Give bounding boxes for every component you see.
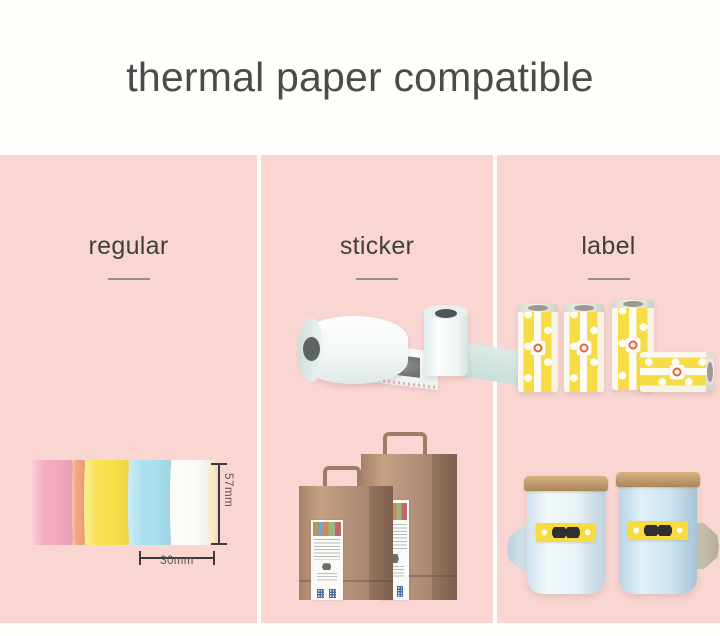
thermal-paper-rolls-image [32, 460, 210, 545]
paper-bag-small-label [311, 520, 343, 600]
mug-right [619, 472, 697, 594]
roll-yellow [84, 460, 130, 545]
page-title: thermal paper compatible [126, 54, 593, 101]
column-regular-title: regular [0, 232, 257, 261]
column-label-header: label [497, 155, 720, 280]
column-sticker-title: sticker [261, 232, 493, 261]
width-dimension-label: 30mm [139, 555, 215, 567]
roll-blue [128, 460, 172, 545]
label-roll-1 [518, 304, 558, 392]
product-infographic: thermal paper compatible regular 57 [0, 0, 720, 636]
sticker-roll-lying [300, 316, 408, 384]
patterned-label-rolls-image [518, 300, 714, 404]
title-bar: thermal paper compatible [0, 0, 720, 155]
mug-right-label [628, 521, 687, 541]
mugs-with-labels-image [505, 466, 715, 598]
column-regular-header: regular [0, 155, 257, 280]
column-regular-rule [108, 278, 150, 280]
column-label-title: label [497, 232, 720, 261]
sticker-paper-rolls-image [280, 296, 470, 406]
sticker-roll-standing [424, 310, 468, 376]
height-dimension-label: 57mm [222, 473, 234, 507]
roll-pink [32, 460, 74, 545]
label-roll-2 [564, 304, 604, 392]
roll-white [170, 460, 212, 545]
column-sticker-header: sticker [261, 155, 493, 280]
kraft-paper-bags-image [281, 424, 471, 600]
label-roll-4 [640, 352, 714, 392]
column-sticker-rule [356, 278, 398, 280]
column-regular: regular 57mm 30mm [0, 155, 257, 623]
mug-left-label [536, 523, 595, 542]
mug-left [527, 476, 605, 594]
column-label-rule [588, 278, 630, 280]
